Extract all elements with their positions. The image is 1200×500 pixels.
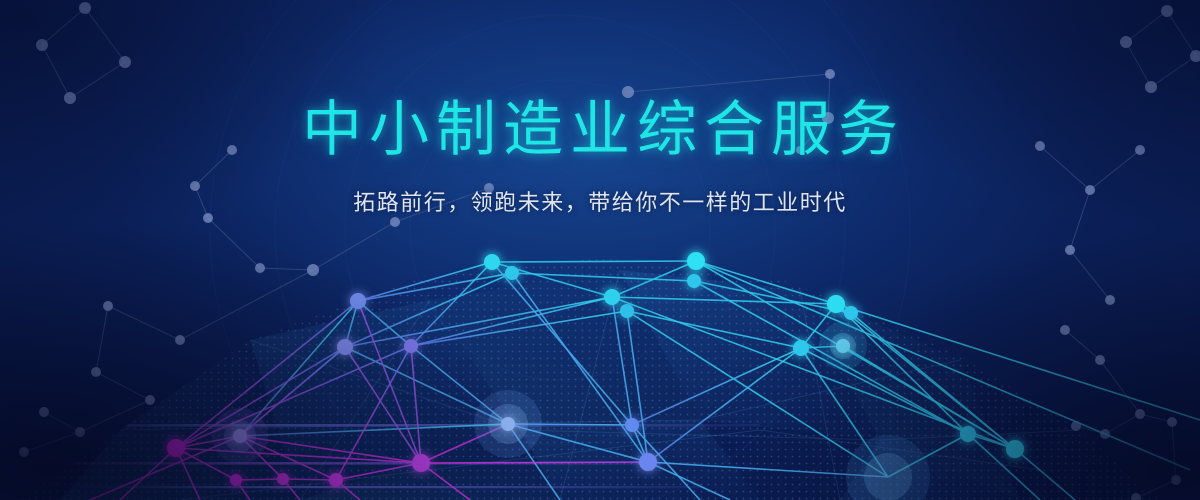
- hero-banner: 中小制造业综合服务 拓路前行，领跑未来，带给你不一样的工业时代: [0, 0, 1200, 500]
- page-subtitle: 拓路前行，领跑未来，带给你不一样的工业时代: [0, 185, 1200, 217]
- background-vignette: [0, 0, 1200, 500]
- hero-title-block: 中小制造业综合服务 拓路前行，领跑未来，带给你不一样的工业时代: [0, 98, 1200, 217]
- page-title: 中小制造业综合服务: [0, 98, 1200, 163]
